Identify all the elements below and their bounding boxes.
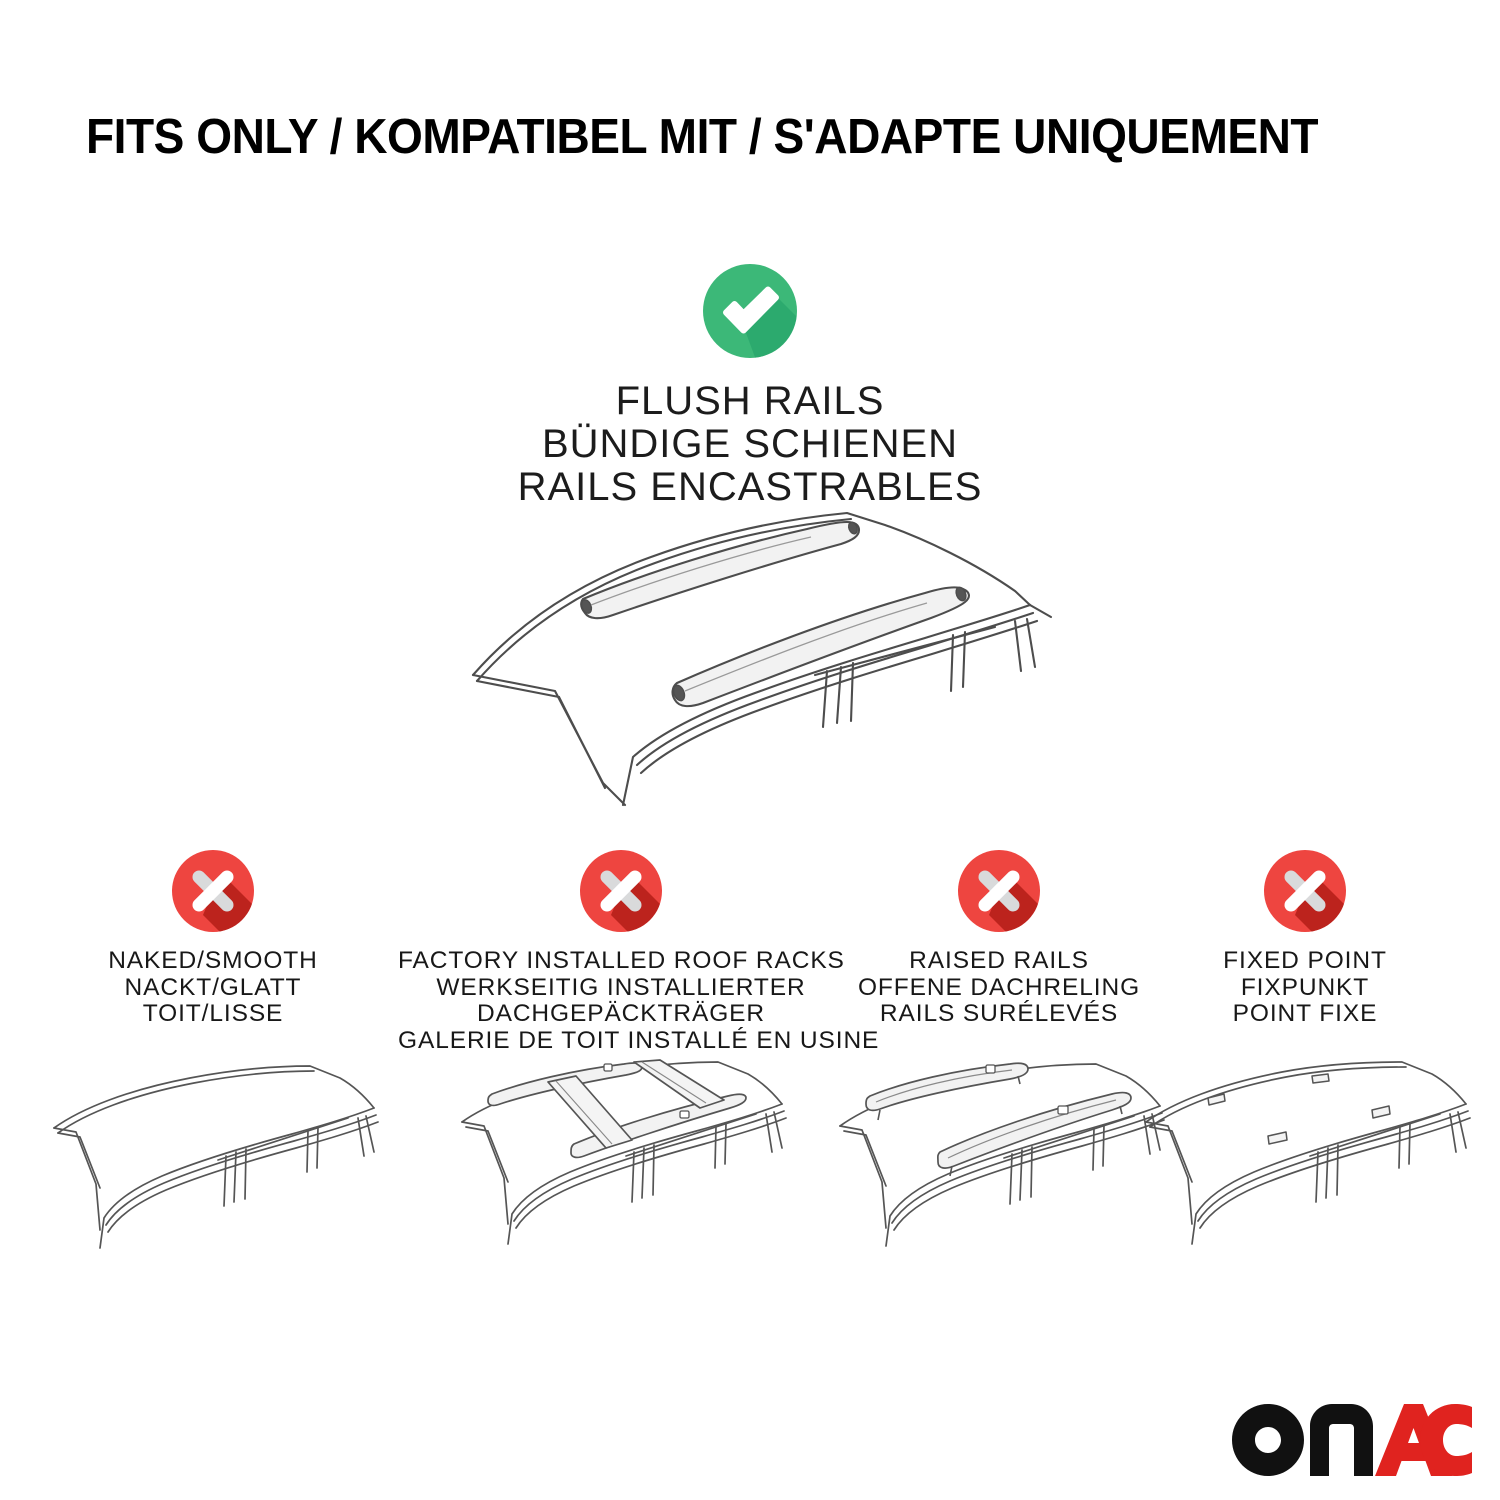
car-roof-with-flush-rails-illustration [455, 495, 1055, 805]
car-roof-with-fixed-points-illustration [1140, 1060, 1470, 1280]
label-en: FIXED POINT [1150, 948, 1460, 975]
incompatible-labels-fixed-point: FIXED POINT FIXPUNKT POINT FIXE [1150, 948, 1460, 1028]
page-title: FITS ONLY / KOMPATIBEL MIT / S'ADAPTE UN… [86, 108, 1346, 166]
label-de2: DACHGEPÄCKTRÄGER [398, 1001, 844, 1028]
incompatible-section: NAKED/SMOOTH NACKT/GLATT TOIT/LISSE [0, 848, 1500, 1468]
incompatible-column-fixed-point: FIXED POINT FIXPUNKT POINT FIXE [1150, 848, 1460, 1028]
label-fr: POINT FIXE [1150, 1001, 1460, 1028]
cross-circle-icon [1262, 848, 1348, 934]
label-en: NAKED/SMOOTH [38, 948, 388, 975]
incompatible-labels-factory-roof-racks: FACTORY INSTALLED ROOF RACKS WERKSEITIG … [398, 948, 844, 1054]
cross-circle-icon [578, 848, 664, 934]
check-circle-icon [701, 262, 799, 360]
label-fr: RAILS SURÉLEVÉS [824, 1001, 1174, 1028]
car-roof-with-crossbars-illustration [456, 1060, 786, 1280]
cross-circle-icon [956, 848, 1042, 934]
label-fr: TOIT/LISSE [38, 1001, 388, 1028]
compatible-labels: FLUSH RAILS BÜNDIGE SCHIENEN RAILS ENCAS… [0, 380, 1500, 509]
incompatible-column-factory-roof-racks: FACTORY INSTALLED ROOF RACKS WERKSEITIG … [398, 848, 844, 1054]
label-de: NACKT/GLATT [38, 975, 388, 1002]
label-de: WERKSEITIG INSTALLIERTER [398, 975, 844, 1002]
compatible-label-en: FLUSH RAILS [0, 380, 1500, 423]
car-roof-with-raised-rails-illustration [834, 1060, 1164, 1280]
label-en: RAISED RAILS [824, 948, 1174, 975]
label-de: OFFENE DACHRELING [824, 975, 1174, 1002]
incompatible-column-naked-smooth: NAKED/SMOOTH NACKT/GLATT TOIT/LISSE [38, 848, 388, 1028]
omac-logo [1232, 1404, 1472, 1478]
compatible-section: FLUSH RAILS BÜNDIGE SCHIENEN RAILS ENCAS… [0, 262, 1500, 509]
label-en: FACTORY INSTALLED ROOF RACKS [398, 948, 844, 975]
incompatible-labels-raised-rails: RAISED RAILS OFFENE DACHRELING RAILS SUR… [824, 948, 1174, 1028]
incompatible-column-raised-rails: RAISED RAILS OFFENE DACHRELING RAILS SUR… [824, 848, 1174, 1028]
incompatible-labels-naked-smooth: NAKED/SMOOTH NACKT/GLATT TOIT/LISSE [38, 948, 388, 1028]
label-fr: GALERIE DE TOIT INSTALLÉ EN USINE [398, 1028, 844, 1055]
car-roof-bare-illustration [48, 1060, 378, 1280]
cross-circle-icon [170, 848, 256, 934]
label-de: FIXPUNKT [1150, 975, 1460, 1002]
compatible-label-de: BÜNDIGE SCHIENEN [0, 423, 1500, 466]
